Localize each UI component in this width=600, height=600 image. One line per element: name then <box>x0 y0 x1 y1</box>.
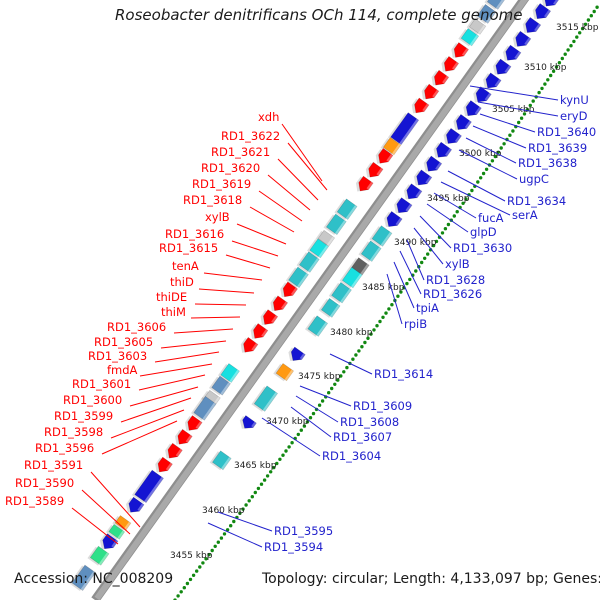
ruler-dot <box>363 341 366 344</box>
ruler-dot <box>251 495 254 498</box>
ruler-dot <box>564 53 567 56</box>
ruler-tick-label-1: 3510 kbp <box>524 63 567 73</box>
ruler-dot <box>278 458 281 461</box>
gene-label-right-glpd[interactable]: glpD <box>470 225 497 239</box>
ruler-dot <box>192 574 195 577</box>
ruler-dot <box>485 168 488 171</box>
ruler-dot <box>595 6 598 9</box>
genome-info-status: Topology: circular; Length: 4,133,097 bp… <box>261 571 600 587</box>
gene-label-left-rd1_3603[interactable]: RD1_3603 <box>88 349 147 363</box>
ruler-dot <box>195 569 198 572</box>
ruler-dot <box>543 82 546 85</box>
ruler-dot <box>248 499 251 502</box>
ruler-dot <box>333 383 336 386</box>
gene-label-left-xdh[interactable]: xdh <box>258 110 279 124</box>
ruler-dot <box>575 35 578 38</box>
gene-label-right-rd1_3634[interactable]: RD1_3634 <box>507 194 566 208</box>
ruler-dot <box>232 520 235 523</box>
ruler-dot <box>360 345 363 348</box>
ruler-tick-label-11: 3460 kbp <box>202 506 245 516</box>
gene-label-right-rd1_3594[interactable]: RD1_3594 <box>264 540 323 554</box>
ruler-dot <box>260 483 263 486</box>
gene-label-left-rd1_3589[interactable]: RD1_3589 <box>5 494 64 508</box>
ruler-dot <box>342 370 345 373</box>
ruler-tick-label-3: 3500 kbp <box>459 149 502 159</box>
gene-label-right-rd1_3608[interactable]: RD1_3608 <box>340 415 399 429</box>
gene-label-left-thim[interactable]: thiM <box>161 305 186 319</box>
ruler-dot <box>183 586 186 589</box>
gene-label-left-rd1_3606[interactable]: RD1_3606 <box>107 320 166 334</box>
ruler-dot <box>546 78 549 81</box>
ruler-dot <box>284 449 287 452</box>
page-title: Roseobacter denitrificans OCh 114, compl… <box>115 6 523 24</box>
ruler-dot <box>354 353 357 356</box>
gene-label-right-rd1_3640[interactable]: RD1_3640 <box>537 125 596 139</box>
ruler-dot <box>396 295 399 298</box>
gene-label-left-thid[interactable]: thiD <box>170 275 194 289</box>
ruler-dot <box>375 324 378 327</box>
ruler-dot <box>384 311 387 314</box>
ruler-dot <box>180 590 183 593</box>
ruler-dot <box>345 366 348 369</box>
ruler-dot <box>351 358 354 361</box>
ruler-tick-label-7: 3480 kbp <box>330 328 373 338</box>
ruler-dot <box>441 231 444 234</box>
ruler-dot <box>263 478 266 481</box>
ruler-dot <box>214 545 217 548</box>
ruler-dot <box>561 57 564 60</box>
gene-label-right-rd1_3604[interactable]: RD1_3604 <box>322 449 381 463</box>
gene-label-right-tpia[interactable]: tpiA <box>416 301 439 315</box>
ruler-tick-label-5: 3490 kbp <box>394 238 437 248</box>
ruler-dot <box>587 18 590 21</box>
ruler-dot <box>309 416 312 419</box>
ruler-dot <box>244 503 247 506</box>
ruler-dot <box>511 129 514 132</box>
ruler-dot <box>186 582 189 585</box>
ruler-dot <box>520 117 523 120</box>
ruler-dot <box>593 10 596 13</box>
ruler-dot <box>566 48 569 51</box>
gene-label-left-rd1_3590[interactable]: RD1_3590 <box>15 476 74 490</box>
gene-label-right-rd1_3630[interactable]: RD1_3630 <box>453 241 512 255</box>
ruler-dot <box>508 134 511 137</box>
gene-label-right-rd1_3626[interactable]: RD1_3626 <box>423 287 482 301</box>
gene-label-left-rd1_3621[interactable]: RD1_3621 <box>211 145 270 159</box>
ruler-dot <box>201 561 204 564</box>
gene-label-right-fuca[interactable]: fucA <box>478 211 504 225</box>
ruler-dot <box>217 541 220 544</box>
gene-label-right-ugpc[interactable]: ugpC <box>519 172 549 186</box>
ruler-dot <box>426 252 429 255</box>
gene-label-right-rd1_3609[interactable]: RD1_3609 <box>353 399 412 413</box>
ruler-tick-label-2: 3505 kbp <box>492 105 535 115</box>
ruler-dot <box>569 44 572 47</box>
ruler-dot <box>517 121 520 124</box>
ruler-dot <box>223 532 226 535</box>
gene-label-left-rd1_3605[interactable]: RD1_3605 <box>94 335 153 349</box>
gene-label-left-rd1_3601[interactable]: RD1_3601 <box>72 377 131 391</box>
gene-label-right-rpib[interactable]: rpiB <box>404 317 427 331</box>
ruler-dot <box>357 349 360 352</box>
ruler-dot <box>453 214 456 217</box>
ruler-dot <box>482 172 485 175</box>
gene-label-right-sera[interactable]: serA <box>512 208 538 222</box>
ruler-tick-label-0: 3515 kbp <box>556 23 599 33</box>
ruler-dot <box>405 282 408 285</box>
accession-status: Accession: NC_008209 <box>14 571 173 587</box>
ruler-dot <box>491 159 494 162</box>
ruler-tick-label-4: 3495 kbp <box>427 194 470 204</box>
canvas-background <box>0 0 600 600</box>
gene-label-right-rd1_3628[interactable]: RD1_3628 <box>426 273 485 287</box>
ruler-dot <box>420 261 423 264</box>
ruler-dot <box>540 87 543 90</box>
gene-label-right-eryd[interactable]: eryD <box>560 109 588 123</box>
gene-label-right-rd1_3595[interactable]: RD1_3595 <box>274 524 333 538</box>
ruler-tick-label-8: 3475 kbp <box>298 372 341 382</box>
ruler-dot <box>456 210 459 213</box>
gene-label-left-fmda[interactable]: fmdA <box>107 363 138 377</box>
gene-label-left-rd1_3619[interactable]: RD1_3619 <box>192 177 251 191</box>
ruler-tick-label-9: 3470 kbp <box>266 417 309 427</box>
gene-label-left-rd1_3618[interactable]: RD1_3618 <box>183 193 242 207</box>
ruler-dot <box>290 441 293 444</box>
gene-label-right-rd1_3614[interactable]: RD1_3614 <box>374 367 433 381</box>
gene-label-left-rd1_3600[interactable]: RD1_3600 <box>63 393 122 407</box>
ruler-dot <box>444 227 447 230</box>
ruler-dot <box>387 307 390 310</box>
gene-label-right-rd1_3607[interactable]: RD1_3607 <box>333 430 392 444</box>
ruler-dot <box>229 524 232 527</box>
ruler-dot <box>476 180 479 183</box>
ruler-dot <box>281 454 284 457</box>
gene-label-left-thide[interactable]: thiDE <box>156 290 187 304</box>
ruler-dot <box>408 278 411 281</box>
genome-map-view: 3515 kbp3510 kbp3505 kbp3500 kbp3495 kbp… <box>0 0 600 600</box>
ruler-tick-label-6: 3485 kbp <box>362 283 405 293</box>
ruler-dot <box>176 594 179 597</box>
ruler-dot <box>479 176 482 179</box>
ruler-dot <box>189 578 192 581</box>
ruler-tick-label-10: 3465 kbp <box>234 461 277 471</box>
ruler-dot <box>318 404 321 407</box>
gene-label-left-rd1_3599[interactable]: RD1_3599 <box>54 409 113 423</box>
ruler-dot <box>390 303 393 306</box>
gene-label-right-rd1_3638[interactable]: RD1_3638 <box>518 156 577 170</box>
ruler-dot <box>572 40 575 43</box>
gene-label-right-rd1_3639[interactable]: RD1_3639 <box>528 141 587 155</box>
ruler-dot <box>423 257 426 260</box>
ruler-dot <box>297 433 300 436</box>
genome-map-canvas[interactable]: 3515 kbp3510 kbp3505 kbp3500 kbp3495 kbp… <box>0 0 600 600</box>
gene-label-left-rd1_3620[interactable]: RD1_3620 <box>201 161 260 175</box>
ruler-dot <box>502 142 505 145</box>
ruler-dot <box>321 399 324 402</box>
ruler-dot <box>220 536 223 539</box>
ruler-dot <box>378 320 381 323</box>
gene-label-right-xylb[interactable]: xylB <box>445 257 470 271</box>
gene-label-left-rd1_3598[interactable]: RD1_3598 <box>44 425 103 439</box>
ruler-dot <box>381 316 384 319</box>
ruler-dot <box>549 74 552 77</box>
gene-label-left-xylb[interactable]: xylB <box>205 210 230 224</box>
ruler-dot <box>372 328 375 331</box>
gene-label-left-rd1_3622[interactable]: RD1_3622 <box>221 129 280 143</box>
ruler-dot <box>300 429 303 432</box>
gene-label-left-rd1_3616[interactable]: RD1_3616 <box>165 227 224 241</box>
gene-label-left-tena[interactable]: tenA <box>172 259 199 273</box>
ruler-dot <box>198 565 201 568</box>
ruler-dot <box>266 474 269 477</box>
ruler-dot <box>330 387 333 390</box>
ruler-dot <box>287 445 290 448</box>
ruler-dot <box>312 412 315 415</box>
ruler-tick-label-12: 3455 kbp <box>170 551 213 561</box>
gene-label-left-rd1_3615[interactable]: RD1_3615 <box>159 241 218 255</box>
ruler-dot <box>414 269 417 272</box>
ruler-dot <box>590 14 593 17</box>
ruler-dot <box>537 91 540 94</box>
ruler-dot <box>327 391 330 394</box>
gene-label-right-kynu[interactable]: kynU <box>560 93 589 107</box>
ruler-dot <box>257 487 260 490</box>
gene-label-left-rd1_3591[interactable]: RD1_3591 <box>24 458 83 472</box>
gene-label-left-rd1_3596[interactable]: RD1_3596 <box>35 441 94 455</box>
ruler-dot <box>254 491 257 494</box>
ruler-dot <box>470 189 473 192</box>
ruler-dot <box>447 223 450 226</box>
ruler-dot <box>532 99 535 102</box>
